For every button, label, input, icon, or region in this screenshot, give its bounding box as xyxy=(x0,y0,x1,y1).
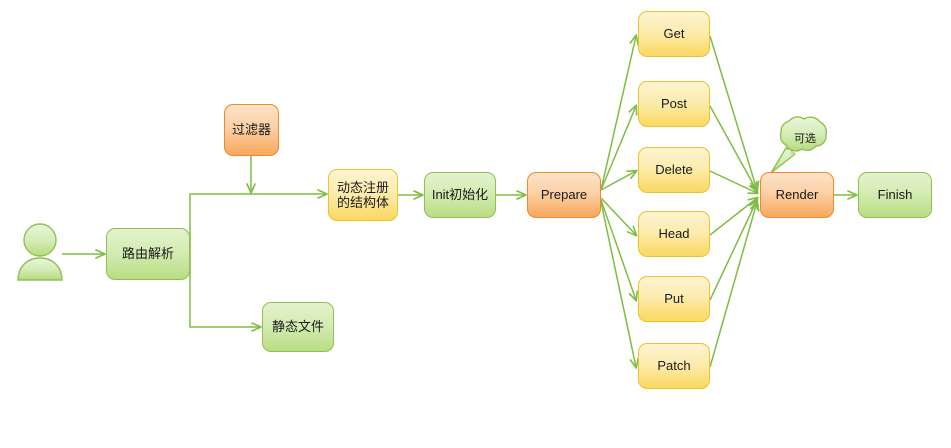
edge-head-render xyxy=(710,198,757,235)
edge-prepare-delete xyxy=(601,171,636,190)
edge-layer xyxy=(0,0,951,448)
node-finish[interactable]: Finish xyxy=(858,172,932,218)
edge-put-render xyxy=(710,200,757,300)
node-head[interactable]: Head xyxy=(638,211,710,257)
node-route[interactable]: 路由解析 xyxy=(106,228,190,280)
node-put[interactable]: Put xyxy=(638,276,710,322)
edge-route-dynreg xyxy=(190,194,326,254)
edge-get-render xyxy=(710,36,757,190)
user-actor-icon xyxy=(18,224,62,280)
node-post[interactable]: Post xyxy=(638,81,710,127)
edge-route-static xyxy=(190,254,260,327)
node-filter[interactable]: 过滤器 xyxy=(224,104,279,156)
node-render[interactable]: Render xyxy=(760,172,834,218)
node-prepare[interactable]: Prepare xyxy=(527,172,601,218)
node-get[interactable]: Get xyxy=(638,11,710,57)
edge-prepare-patch xyxy=(601,202,636,367)
node-patch[interactable]: Patch xyxy=(638,343,710,389)
node-dynreg[interactable]: 动态注册 的结构体 xyxy=(328,169,398,221)
edge-prepare-head xyxy=(601,198,636,235)
edge-prepare-post xyxy=(601,106,636,190)
node-static[interactable]: 静态文件 xyxy=(262,302,334,352)
node-init[interactable]: Init初始化 xyxy=(424,172,496,218)
edge-delete-render xyxy=(710,171,757,193)
edge-prepare-get xyxy=(601,36,636,190)
node-delete[interactable]: Delete xyxy=(638,147,710,193)
edge-patch-render xyxy=(710,202,757,367)
edge-post-render xyxy=(710,106,757,191)
edge-prepare-put xyxy=(601,200,636,300)
flowchart-canvas: 可选 路由解析过滤器静态文件动态注册 的结构体Init初始化PrepareGet… xyxy=(0,0,951,448)
cloud-label: 可选 xyxy=(794,130,816,146)
